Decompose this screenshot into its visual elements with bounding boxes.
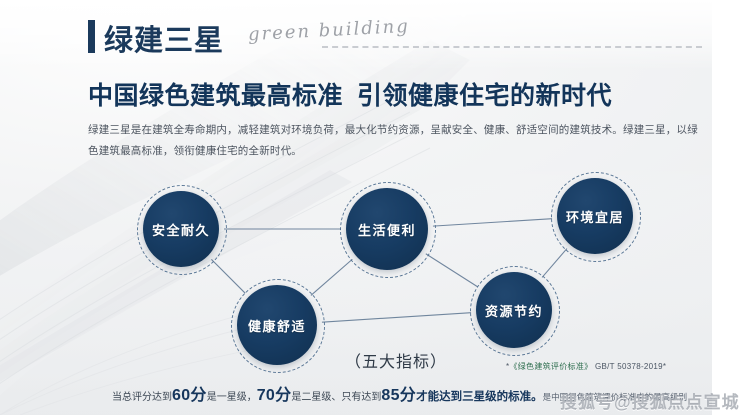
page-title-part2: 引领健康住宅的新时代 (357, 82, 612, 110)
header-title-cn: 绿建三星 (104, 27, 224, 56)
score-note-s2: 是一星级， (207, 392, 257, 403)
header-accent-bar (88, 20, 95, 53)
diagram-node-environment[interactable]: 环境宜居 (557, 178, 633, 254)
footnote-standard-name: 《绿色建筑评价标准》 (509, 362, 592, 371)
diagram-caption: （五大指标） (345, 348, 447, 372)
footnote-suffix: * (663, 362, 666, 371)
score-note-n2: 70分 (257, 387, 292, 404)
page-title: 中国绿色建筑最高标准引领健康住宅的新时代 (88, 76, 612, 112)
diagram-node-label-convenience: 生活便利 (358, 220, 416, 239)
score-note-n1: 60分 (172, 387, 207, 404)
diagram-node-label-environment: 环境宜居 (566, 207, 624, 226)
diagram-node-label-resource: 资源节约 (485, 301, 543, 320)
slide-root: 绿建三星 green building 中国绿色建筑最高标准引领健康住宅的新时代… (0, 0, 740, 415)
diagram-node-safety[interactable]: 安全耐久 (143, 191, 219, 267)
standard-footnote: *《绿色建筑评价标准》 GB/T 50378-2019* (506, 361, 666, 372)
watermark: 搜狐号@搜狐点点宣城站 (560, 388, 740, 413)
diagram-node-label-safety: 安全耐久 (152, 220, 210, 239)
score-note-s3: 是二星级、只有达到 (291, 392, 381, 403)
diagram-node-label-health: 健康舒适 (248, 316, 306, 335)
page-title-part1: 中国绿色建筑最高标准 (88, 82, 343, 110)
diagram-node-resource[interactable]: 资源节约 (476, 272, 552, 348)
footnote-code: GB/T 50378-2019 (595, 362, 663, 371)
diagram-node-convenience[interactable]: 生活便利 (346, 188, 428, 270)
score-note-s4: 才能达到三星级的标准。 (416, 391, 543, 403)
header-dashed-rule (322, 46, 702, 48)
background-right-band (712, 0, 740, 415)
score-note-s1: 当总评分达到 (112, 392, 172, 403)
intro-paragraph: 绿建三星是在建筑全寿命期内，减轻建筑对环境负荷，最大化节约资源，呈献安全、健康、… (88, 120, 700, 162)
diagram-node-health[interactable]: 健康舒适 (237, 285, 317, 365)
header: 绿建三星 (88, 12, 224, 56)
score-note-n3: 85分 (381, 387, 416, 404)
